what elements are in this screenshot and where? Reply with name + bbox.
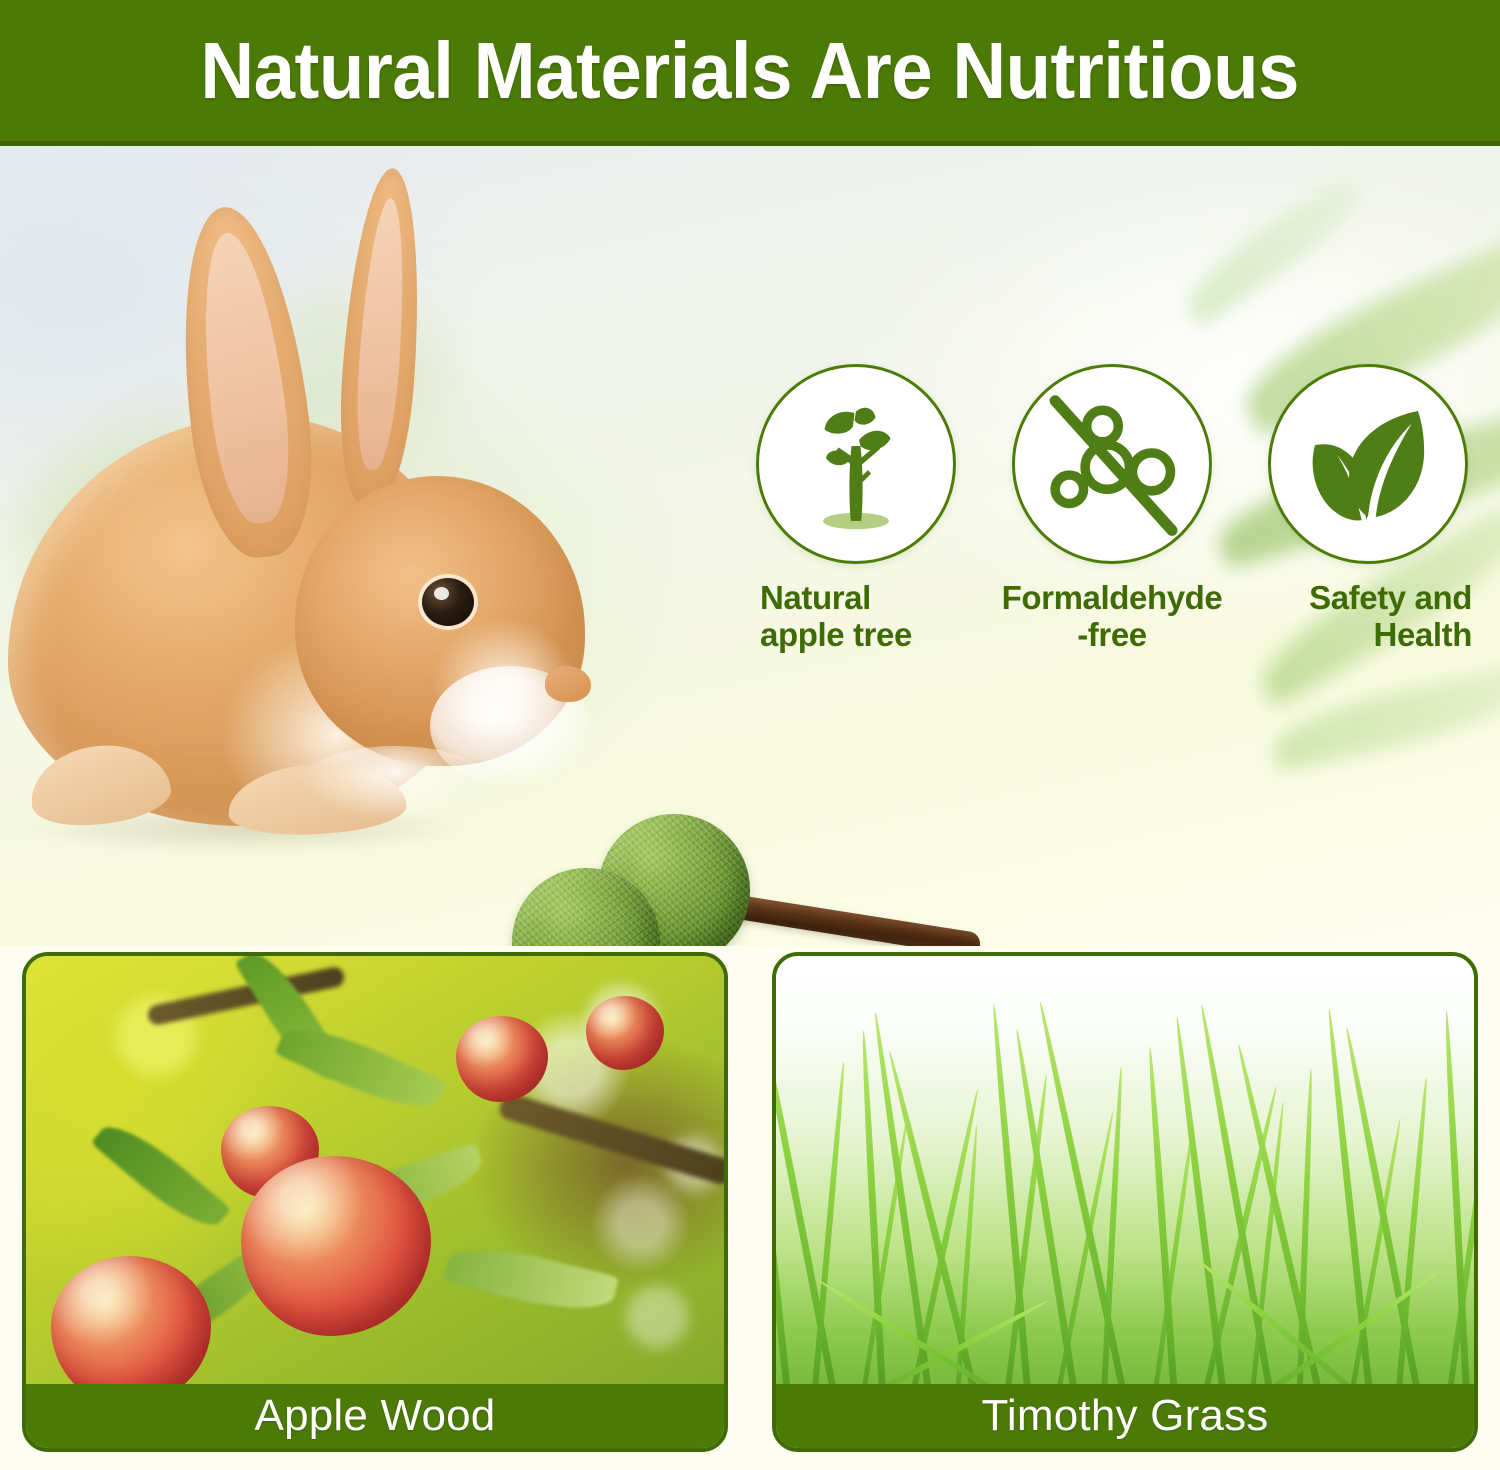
material-card-list: Apple Wood [22, 952, 1478, 1452]
badge-label-line2: Health [1374, 616, 1472, 653]
apple-wood-photo [26, 956, 724, 1388]
material-card-apple-wood[interactable]: Apple Wood [22, 952, 728, 1452]
rabbit-eye [422, 578, 474, 626]
apple-leaf [91, 1112, 232, 1239]
badge-circle [1012, 364, 1212, 564]
badge-label-line2: -free [1077, 616, 1147, 653]
feature-badge-formaldehyde-free: Formaldehyde -free [998, 364, 1226, 654]
grass-field-scene [776, 956, 1474, 1388]
apple-fruit [51, 1256, 211, 1388]
sapling-tree-icon [781, 389, 931, 539]
grass-blade [776, 1014, 793, 1388]
timothy-grass-photo [776, 956, 1474, 1388]
material-caption-bar: Apple Wood [26, 1384, 724, 1448]
badge-label: Safety and Health [1254, 580, 1482, 654]
material-caption-bar: Timothy Grass [776, 1384, 1474, 1448]
rabbit-photo [0, 146, 640, 906]
hero-panel: Natural apple tree [0, 146, 1500, 946]
product-photo [490, 806, 1010, 946]
apple-fruit [456, 1016, 548, 1102]
badge-label: Formaldehyde -free [1002, 580, 1223, 654]
no-formaldehyde-molecule-icon [1033, 385, 1191, 543]
bokeh-highlight [626, 1286, 688, 1348]
grass-blade [810, 1061, 847, 1388]
rabbit-ear-inner [190, 229, 299, 528]
grass-blade [1248, 1101, 1286, 1388]
material-card-timothy-grass[interactable]: Timothy Grass [772, 952, 1478, 1452]
apple-fruit [241, 1156, 431, 1336]
apple-fruit [586, 996, 664, 1070]
apple-leaf [274, 1013, 447, 1122]
apple-leaf [443, 1236, 619, 1322]
badge-circle [756, 364, 956, 564]
material-caption-label: Apple Wood [255, 1391, 496, 1441]
header-banner: Natural Materials Are Nutritious [0, 0, 1500, 141]
badge-label: Natural apple tree [742, 580, 970, 654]
badge-label-line1: Natural [760, 579, 871, 616]
feature-badge-natural-apple-tree: Natural apple tree [742, 364, 970, 654]
badge-label-line2: apple tree [760, 616, 912, 653]
apple-orchard-scene [26, 956, 724, 1388]
badge-circle [1268, 364, 1468, 564]
two-leaves-icon [1290, 386, 1446, 542]
feature-badge-safety-and-health: Safety and Health [1254, 364, 1482, 654]
badge-label-line1: Safety and [1309, 579, 1472, 616]
rabbit-nose [545, 666, 591, 702]
page-title: Natural Materials Are Nutritious [201, 31, 1300, 111]
grass-blade [1198, 1004, 1277, 1388]
feature-badge-list: Natural apple tree [742, 364, 1482, 694]
material-caption-label: Timothy Grass [981, 1391, 1268, 1441]
rabbit-ear-inner [352, 197, 411, 471]
badge-label-line1: Formaldehyde [1002, 579, 1223, 616]
rabbit-ear-right [333, 166, 429, 510]
